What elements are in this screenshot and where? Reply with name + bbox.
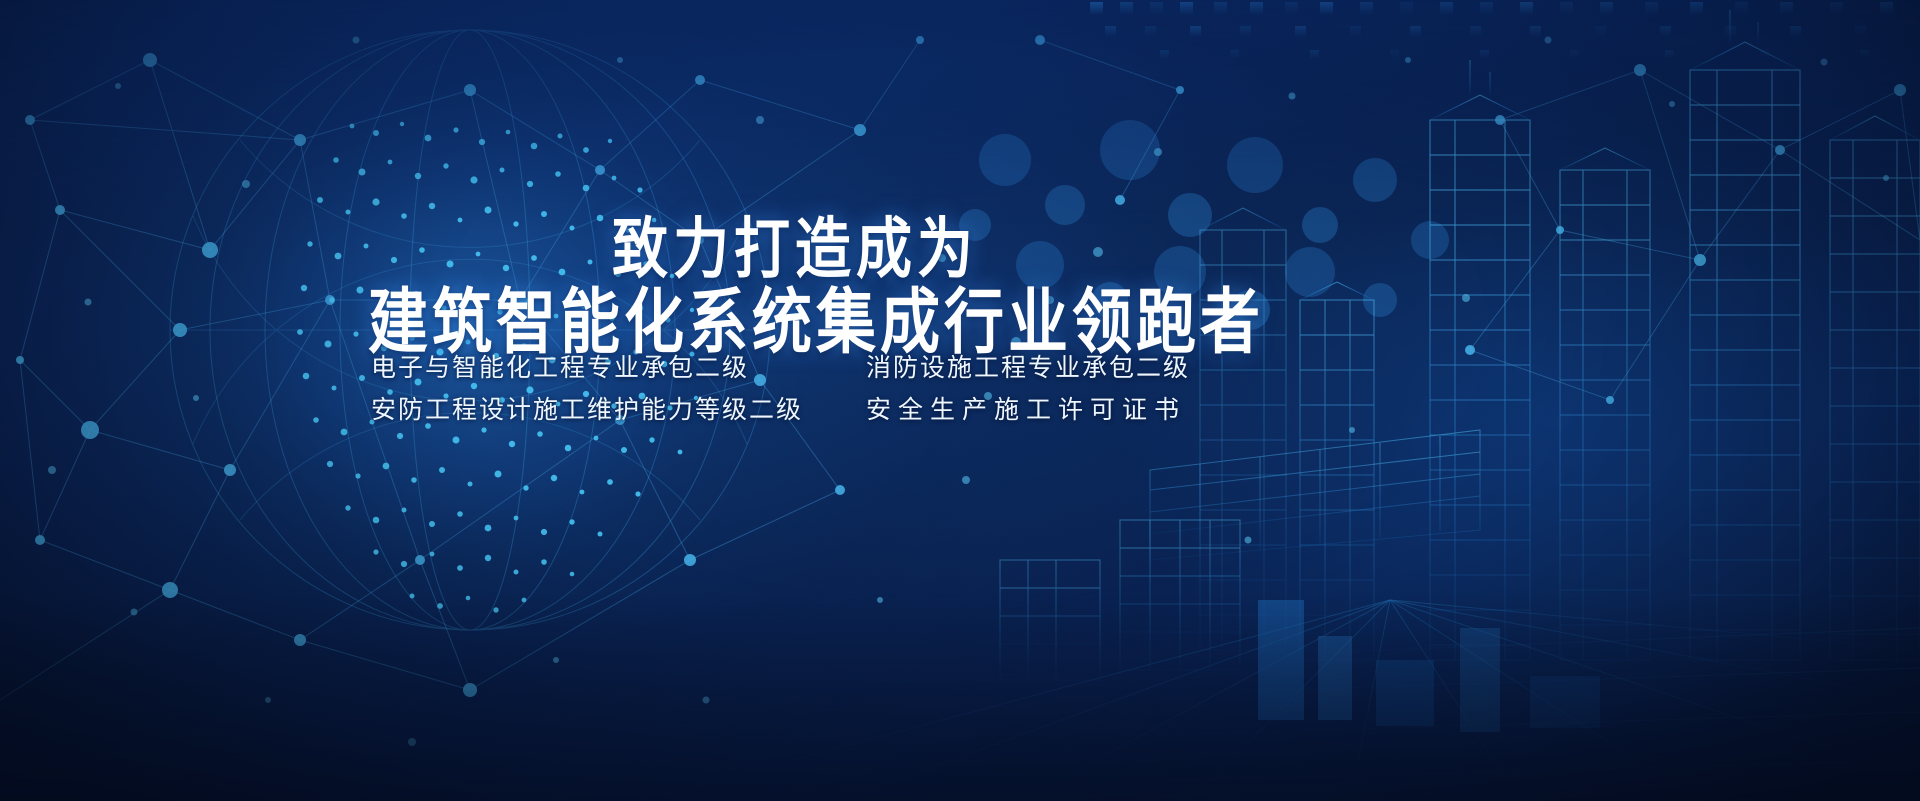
headline-line-1: 致力打造成为 (612, 196, 978, 292)
constellation-network-lines (0, 40, 1920, 700)
top-glow (0, 0, 1920, 801)
bokeh-circles (959, 120, 1449, 330)
vignette-overlay (0, 0, 1920, 801)
qualification-safety-production-license: 安全生产施工许可证书 (866, 390, 1186, 426)
qualification-fire-protection: 消防设施工程专业承包二级 (866, 348, 1190, 384)
digital-square-grid (0, 0, 1920, 801)
hero-banner: 致力打造成为 建筑智能化系统集成行业领跑者 电子与智能化工程专业承包二级 消防设… (0, 0, 1920, 801)
qualification-security-engineering: 安防工程设计施工维护能力等级二级 (371, 390, 803, 426)
bottom-glow (0, 0, 1920, 801)
wireframe-city-skyline (1000, 10, 1920, 680)
network-nodes (16, 35, 1906, 697)
qualification-electronics-intelligent: 电子与智能化工程专业承包二级 (371, 348, 749, 384)
foreground-glow-blocks (1258, 600, 1600, 732)
ambient-dots (48, 37, 1889, 747)
banner-copy: 致力打造成为 建筑智能化系统集成行业领跑者 电子与智能化工程专业承包二级 消防设… (0, 0, 1920, 801)
headline-line-2: 建筑智能化系统集成行业领跑者 (368, 265, 1264, 368)
wireframe-dot-globe (170, 30, 770, 630)
perspective-ground-grid (640, 600, 1920, 801)
